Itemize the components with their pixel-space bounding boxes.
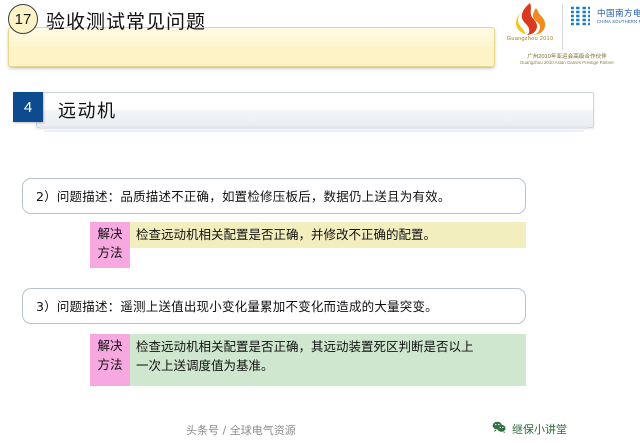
answer-label-line2: 方法: [90, 355, 130, 374]
section-underline-secondary: [44, 130, 584, 132]
csg-name-cn: 中国南方电网: [597, 7, 640, 19]
logo-divider: [562, 4, 563, 50]
asian-games-wordmark: Guangzhou 2010: [500, 36, 560, 42]
asian-games-logo: Guangzhou 2010: [500, 2, 560, 50]
answer-label-line2: 方法: [90, 243, 130, 262]
section-title: 远动机: [58, 97, 117, 123]
answer-label-line1: 解决: [90, 336, 130, 355]
question-text: 3）问题描述：遥测上送值出现小变化量累加不变化而造成的大量突变。: [36, 298, 438, 315]
section-number-badge: 4: [13, 92, 43, 122]
answer-label-line1: 解决: [90, 224, 130, 243]
csg-logo: 中国南方电网 CHINA SOUTHERN POWER GRID: [568, 4, 636, 50]
asian-games-caption-cn: 广州2010年亚运会高级合作伙伴: [496, 52, 638, 60]
page-title: 验收测试常见问题: [46, 7, 206, 34]
section-bar: [36, 92, 594, 128]
answer-line: 检查远动机相关配置是否正确，并修改不正确的配置。: [136, 225, 526, 244]
footer-source-text: 头条号 / 全球电气资源: [186, 422, 296, 438]
question-text: 2）问题描述：品质描述不正确，如置检修压板后，数据仍上送且为有效。: [36, 188, 451, 205]
asian-games-flame-icon: [510, 2, 550, 36]
footer-account-name: 继保小讲堂: [512, 421, 567, 437]
csg-name-en: CHINA SOUTHERN POWER GRID: [597, 19, 640, 24]
answer-label: 解决 方法: [90, 222, 130, 268]
answer-body: 检查远动机相关配置是否正确，其远动装置死区判断是否以上 一次上送调度值为基准。: [130, 334, 526, 386]
answer-body: 检查远动机相关配置是否正确，并修改不正确的配置。: [130, 222, 526, 248]
answer-line: 一次上送调度值为基准。: [136, 356, 526, 375]
wechat-icon: [492, 421, 506, 433]
answer-label: 解决 方法: [90, 334, 130, 386]
csg-mark-icon: [568, 4, 594, 30]
section-underline: [40, 126, 588, 129]
answer-line: 检查远动机相关配置是否正确，其远动装置死区判断是否以上: [136, 337, 526, 356]
footer: 头条号 / 全球电气资源 继保小讲堂: [0, 413, 640, 443]
logo-block: Guangzhou 2010 中国南方电网 CHINA SOUTHERN POW…: [494, 0, 640, 76]
slide-number-badge: 17: [8, 4, 38, 34]
asian-games-caption-en: Guangzhou 2010 Asian Games Prestige Part…: [496, 60, 638, 65]
